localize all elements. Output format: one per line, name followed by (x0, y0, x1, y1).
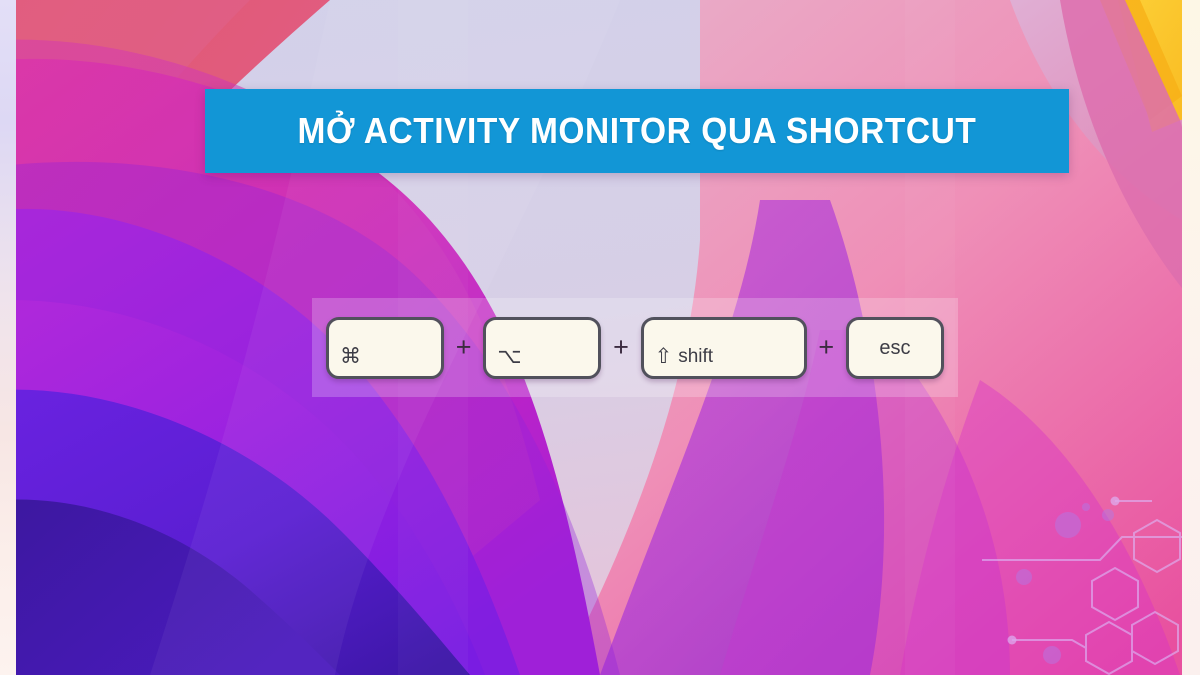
key-shift-label: ⇧ shift (644, 346, 713, 376)
title-banner: MỞ ACTIVITY MONITOR QUA SHORTCUT (205, 89, 1069, 173)
key-option[interactable]: ⌥ (483, 317, 601, 379)
shortcut-keys-panel: ⌘ + ⌥ + ⇧ shift + esc (312, 298, 958, 397)
shift-arrow-icon: ⇧ (655, 346, 673, 367)
right-edge-strip (1182, 0, 1200, 675)
key-shift-text: shift (678, 347, 713, 366)
separator-plus-1: + (454, 334, 474, 361)
key-escape-text: esc (879, 338, 910, 358)
option-key-icon: ⌥ (497, 346, 521, 367)
command-key-icon: ⌘ (340, 346, 361, 367)
key-escape[interactable]: esc (846, 317, 944, 379)
key-command-label: ⌘ (329, 346, 361, 376)
slide-canvas: MỞ ACTIVITY MONITOR QUA SHORTCUT ⌘ + ⌥ +… (0, 0, 1200, 675)
separator-plus-3: + (816, 334, 836, 361)
separator-plus-2: + (611, 334, 631, 361)
key-shift[interactable]: ⇧ shift (641, 317, 807, 379)
page-title: MỞ ACTIVITY MONITOR QUA SHORTCUT (298, 110, 977, 152)
hexagon-circuit-decoration (982, 485, 1182, 675)
left-edge-strip (0, 0, 16, 675)
shortcut-keys-row: ⌘ + ⌥ + ⇧ shift + esc (326, 317, 944, 379)
key-command[interactable]: ⌘ (326, 317, 444, 379)
key-option-label: ⌥ (486, 346, 521, 376)
key-escape-label: esc (879, 338, 910, 358)
